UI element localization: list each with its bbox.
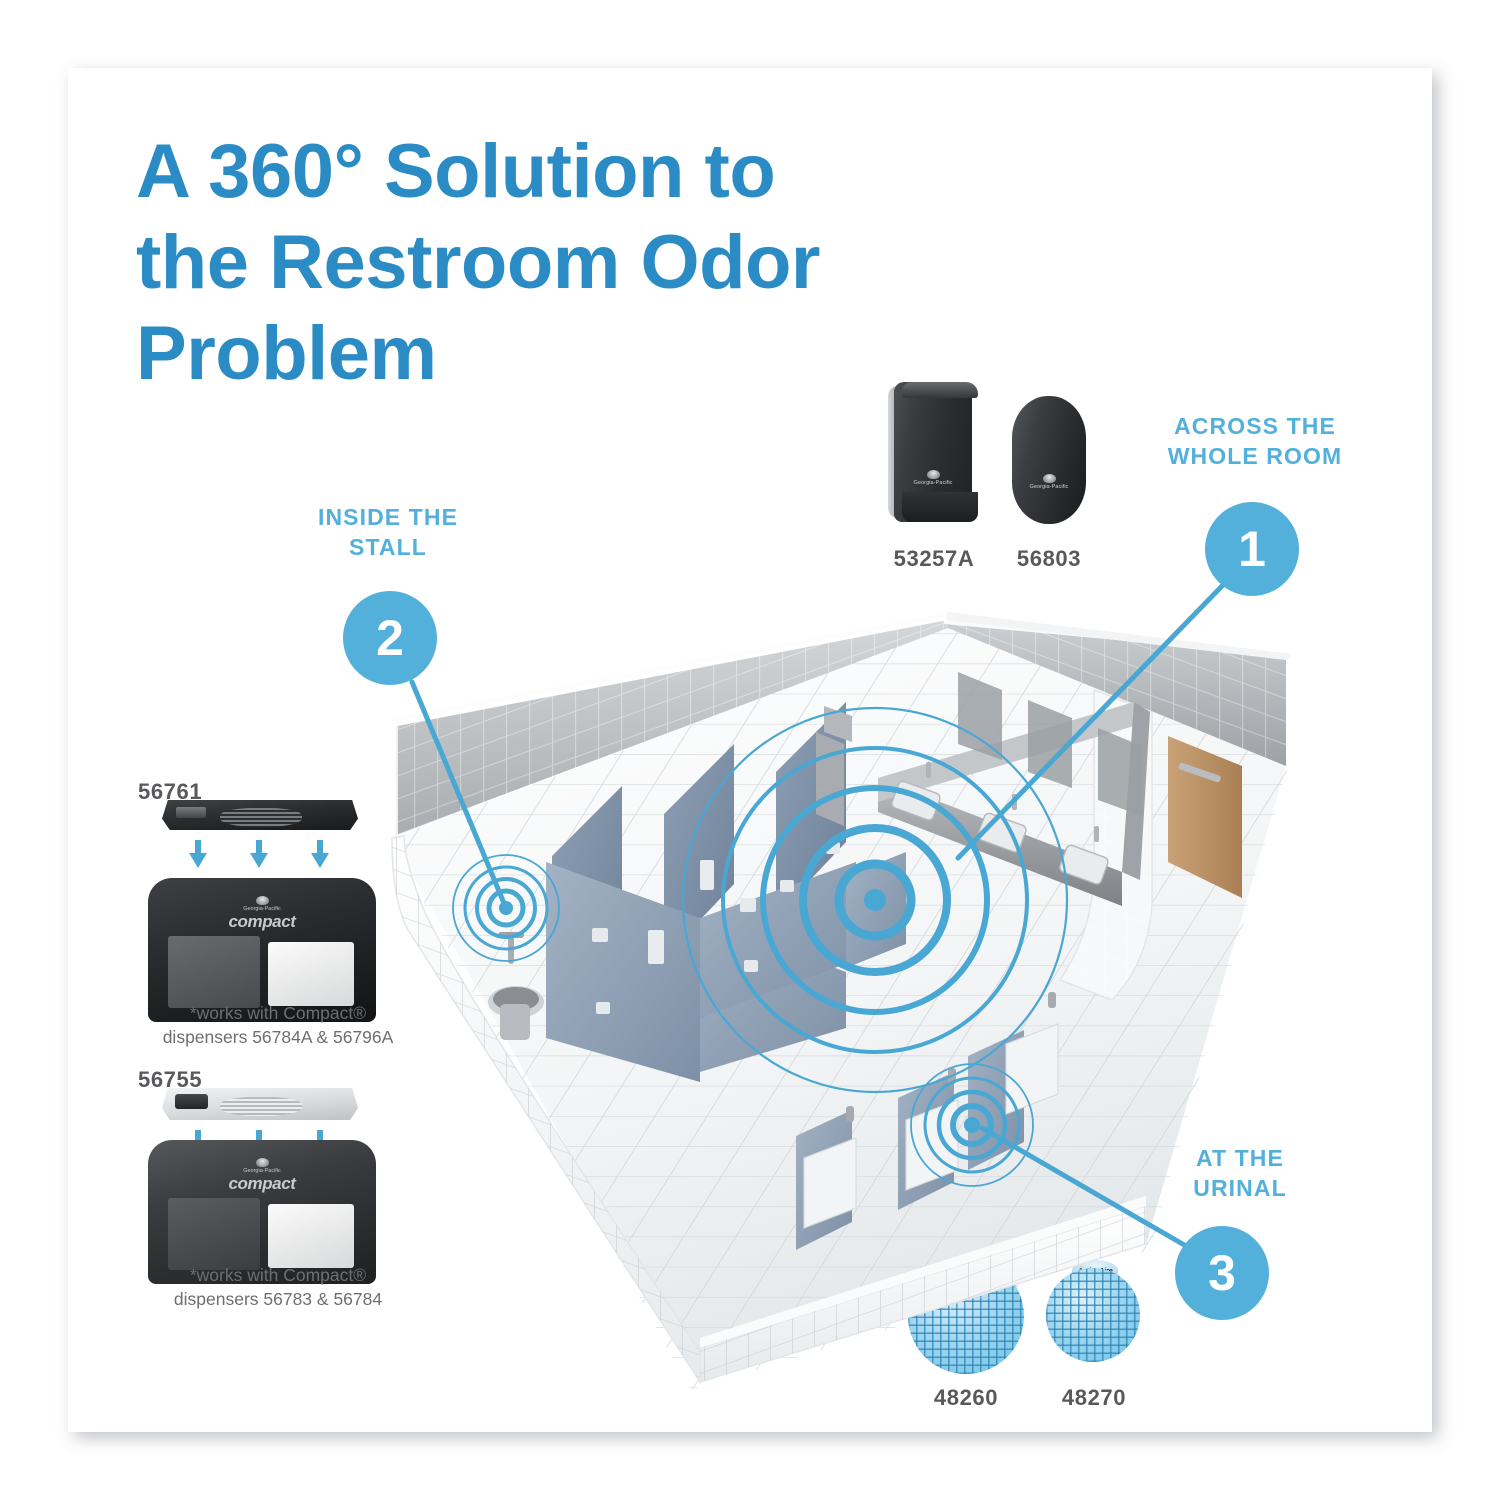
callout-number-3: 3 — [1208, 1244, 1236, 1302]
callout-bubble-2[interactable]: 2 — [343, 591, 437, 685]
restroom-scene-illustration — [0, 0, 1500, 1500]
wall-dispenser — [816, 732, 844, 826]
callout-bubble-1[interactable]: 1 — [1205, 502, 1299, 596]
callout-bubble-3[interactable]: 3 — [1175, 1226, 1269, 1320]
callout-number-1: 1 — [1238, 520, 1266, 578]
callout-number-2: 2 — [376, 609, 404, 667]
infographic-canvas: A 360° Solution to the Restroom Odor Pro… — [0, 0, 1500, 1500]
